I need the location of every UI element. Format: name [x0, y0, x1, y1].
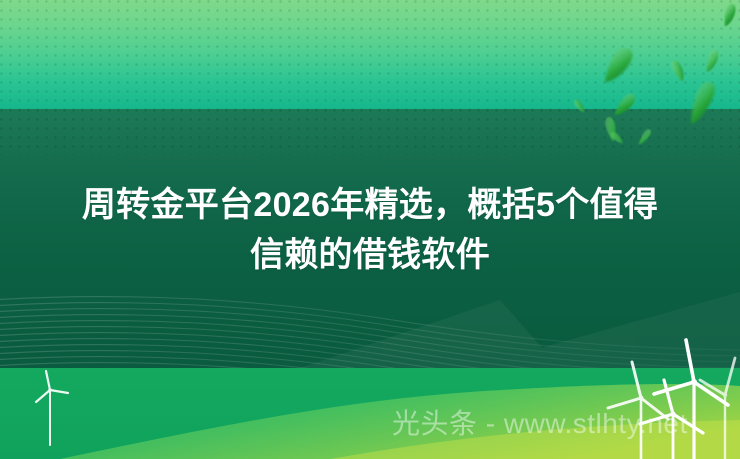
halftone-dots-texture-top — [0, 0, 740, 109]
watermark-text: 光头条 - www.stlhty.net — [392, 404, 688, 444]
page-title: 周转金平台2026年精选，概括5个值得 信赖的借钱软件 — [0, 180, 740, 280]
promo-banner: 周转金平台2026年精选，概括5个值得 信赖的借钱软件 光头条 - www.st… — [0, 0, 740, 459]
halftone-dots-texture-middle — [0, 109, 740, 155]
